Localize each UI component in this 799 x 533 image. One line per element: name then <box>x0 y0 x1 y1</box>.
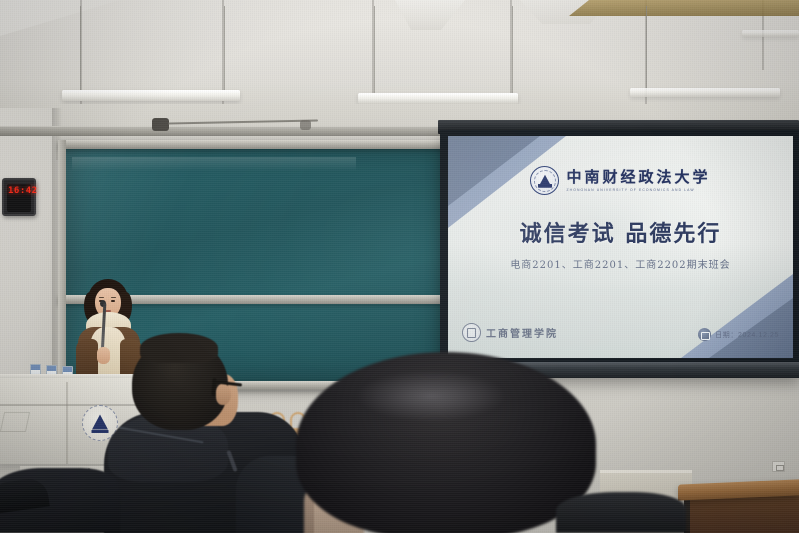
slide-footer-date: 日期：2024.12.25 <box>698 328 779 341</box>
lectern-seam-vertical <box>66 382 68 464</box>
ceiling-light-4 <box>742 30 799 37</box>
slide-title: 诚信考试 品德先行 <box>448 216 793 248</box>
light-wire-4 <box>512 6 513 96</box>
side-cabinet-edge <box>600 470 692 473</box>
school-seal-icon <box>462 323 481 342</box>
slide-date-text: 日期：2024.12.25 <box>715 330 779 340</box>
school-name: 工商管理学院 <box>486 325 558 340</box>
lectern-panel-detail <box>0 412 30 432</box>
calendar-icon <box>698 328 711 341</box>
center-student-hair-highlight <box>356 370 506 422</box>
slide-university-header: 中南财经政法大学 ZHONGNAN UNIVERSITY OF ECONOMIC… <box>448 166 793 195</box>
university-name-en: ZHONGNAN UNIVERSITY OF ECONOMICS AND LAW <box>566 187 694 193</box>
blackboard-highlight <box>72 157 356 171</box>
student-ear <box>216 384 231 405</box>
projector-mount-bracket <box>152 118 169 131</box>
ceiling-light-2 <box>358 93 518 104</box>
classroom-photo: 16:42 中南财经政法大学 ZHONGNAN UN <box>0 0 799 533</box>
university-crest-icon <box>530 166 559 195</box>
led-clock-display: 16:42 <box>2 178 36 216</box>
blackboard-rail-top <box>58 140 453 149</box>
presentation-slide: 中南财经政法大学 ZHONGNAN UNIVERSITY OF ECONOMIC… <box>448 136 793 358</box>
blackboard-frame-left <box>58 140 66 390</box>
university-name-cn: 中南财经政法大学 <box>566 169 710 186</box>
light-wire-1 <box>80 6 81 92</box>
power-outlet <box>772 461 785 472</box>
led-clock-digits: 16:42 <box>8 186 38 196</box>
slide-footer-school: 工商管理学院 <box>462 323 558 342</box>
slide-subtitle: 电商2201、工商2201、工商2202期末班会 <box>448 256 793 271</box>
student-hair <box>140 333 218 363</box>
light-wire-2 <box>224 6 225 92</box>
foreground-student-left <box>104 338 314 533</box>
light-wire-5 <box>646 6 647 90</box>
blackboard-top-rail <box>0 126 460 136</box>
university-name-block: 中南财经政法大学 ZHONGNAN UNIVERSITY OF ECONOMIC… <box>566 169 710 193</box>
light-wire-3 <box>374 6 375 96</box>
ceiling-light-1 <box>62 90 240 101</box>
foreground-student-right <box>556 492 686 533</box>
wood-ceiling-trim <box>569 0 799 16</box>
foreground-student-center <box>296 352 596 533</box>
ceiling-light-3 <box>630 88 780 97</box>
